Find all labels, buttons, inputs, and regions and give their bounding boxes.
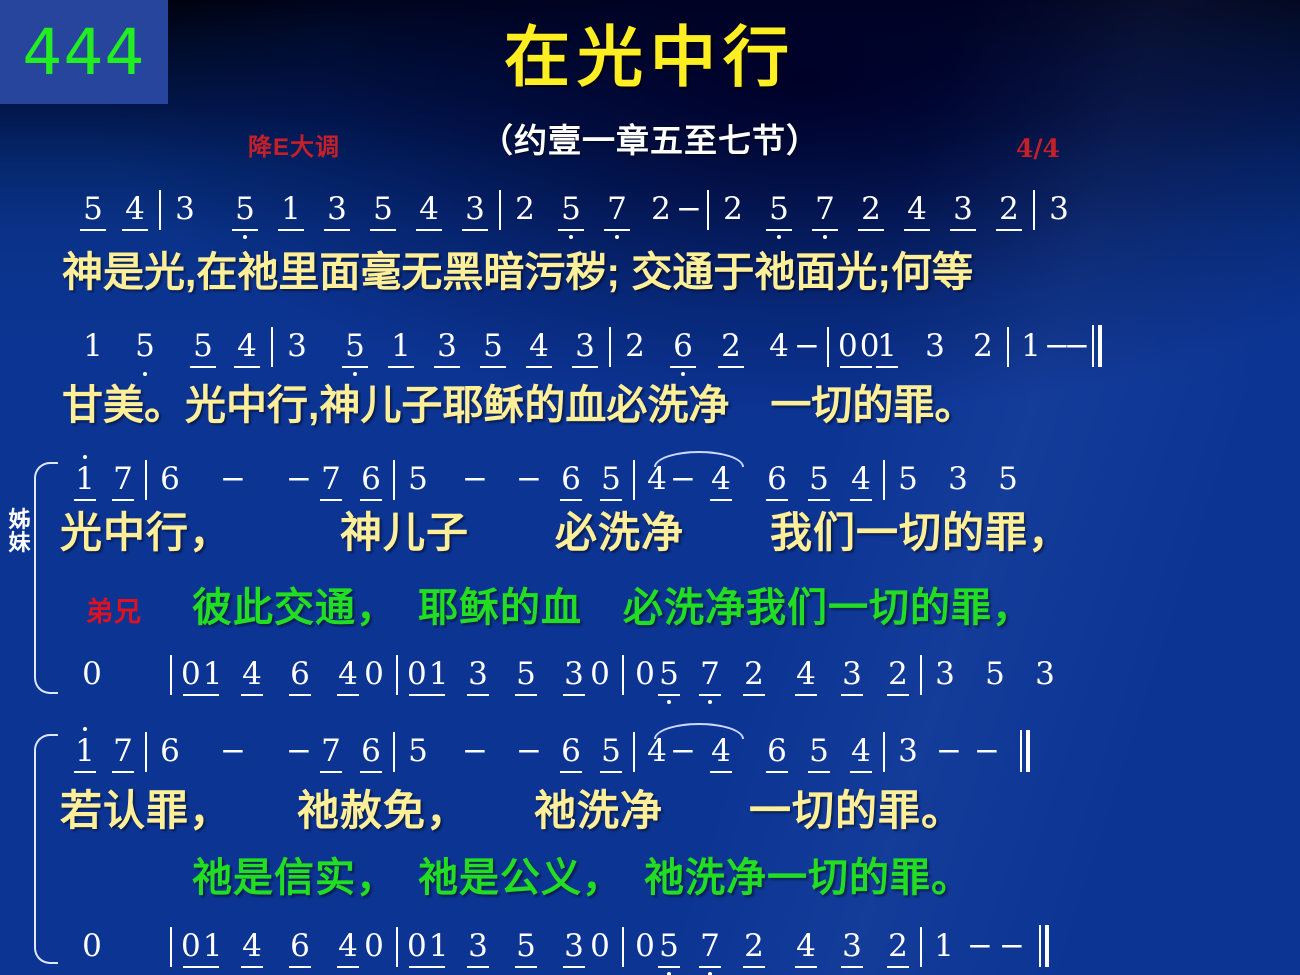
note: 3	[561, 931, 587, 971]
note: 7	[810, 194, 840, 234]
barline	[1007, 327, 1009, 367]
chorus-brace-2	[34, 734, 58, 964]
note: 3	[944, 464, 972, 504]
note: 1	[1018, 331, 1044, 371]
note: 5	[368, 194, 398, 234]
note: 3	[570, 331, 600, 371]
note-dash: −	[974, 736, 998, 776]
note: 5	[478, 331, 508, 371]
note: 5	[513, 659, 539, 699]
note: 6	[764, 464, 790, 504]
time-signature: 4/4	[1016, 134, 1060, 163]
note: 2	[994, 194, 1024, 234]
barline	[827, 327, 829, 367]
note: 1	[276, 194, 306, 234]
note: 6	[764, 736, 790, 776]
note: 6	[287, 931, 313, 971]
note: 5	[994, 464, 1022, 504]
note-dash: −	[220, 736, 244, 776]
note-dash: −	[670, 736, 696, 776]
note: 4	[335, 659, 361, 699]
hymn-number: 444	[22, 21, 145, 84]
note: 3	[894, 736, 922, 776]
note-dash: −	[286, 464, 310, 504]
note-dash: −	[1044, 331, 1064, 371]
note-dash: −	[999, 931, 1021, 971]
note: 4	[232, 331, 262, 371]
note: 0	[633, 659, 657, 699]
note: 3	[465, 659, 491, 699]
barline	[883, 732, 885, 772]
note-high: 1	[72, 736, 98, 776]
note: 5	[78, 194, 108, 234]
note: 2	[885, 931, 911, 971]
note: 7	[318, 464, 344, 504]
note: 2	[510, 194, 540, 234]
barline	[499, 190, 501, 230]
note: 5	[230, 194, 260, 234]
staff-verse-line-1: 5 4 3 5 1 3 5 4 3 2 5 7 2 − 2 5 7 2 4	[78, 190, 1074, 234]
note: 5	[340, 331, 370, 371]
note-dash: −	[462, 736, 486, 776]
barline	[396, 655, 398, 695]
note: 4	[764, 331, 794, 371]
note: 6	[558, 464, 584, 504]
note-dash: −	[794, 331, 818, 371]
note: 4	[793, 931, 819, 971]
note: 2	[646, 194, 676, 234]
staff-verse-line-2: 1 5 5 4 3 5 1 3 5 4 3 2 6 2 4 − 00 1 3	[78, 325, 1106, 371]
barline	[633, 732, 635, 772]
note-pair: 01	[407, 659, 447, 699]
note: 4	[414, 194, 444, 234]
note: 3	[839, 659, 865, 699]
note: 6	[156, 736, 184, 776]
note-dash: −	[220, 464, 244, 504]
note: 5	[657, 659, 681, 699]
barline	[633, 460, 635, 500]
note: 3	[561, 659, 587, 699]
lyric-verse-line-1: 神是光,在祂里面毫无黑暗污秽; 交通于祂面光;何等	[62, 252, 973, 293]
note: 1	[386, 331, 416, 371]
note: 7	[602, 194, 632, 234]
note: 3	[460, 194, 490, 234]
note: 3	[1031, 659, 1059, 699]
note: 0	[587, 659, 613, 699]
note: 4	[239, 931, 265, 971]
note: 0	[78, 931, 106, 971]
note: 1	[874, 331, 900, 371]
note: 4	[708, 736, 734, 776]
note: 5	[764, 194, 794, 234]
note: 5	[894, 464, 922, 504]
note: 4	[793, 659, 819, 699]
note: 6	[156, 464, 184, 504]
note: 3	[1044, 194, 1074, 234]
barline	[145, 732, 147, 772]
note: 4	[524, 331, 554, 371]
part-label-sisters: 姊妹	[8, 508, 32, 554]
note: 2	[741, 931, 767, 971]
note: 3	[839, 931, 865, 971]
note: 5	[513, 931, 539, 971]
barline	[883, 460, 885, 500]
note: 5	[598, 736, 624, 776]
note: 4	[644, 736, 670, 776]
note: 7	[697, 659, 723, 699]
note-pair: 01	[181, 931, 221, 971]
note: 1	[931, 931, 957, 971]
barline	[271, 327, 273, 367]
note: 6	[558, 736, 584, 776]
note: 1	[78, 331, 108, 371]
note: 5	[404, 464, 432, 504]
barline	[707, 190, 709, 230]
note: 2	[741, 659, 767, 699]
barline	[170, 927, 172, 967]
note-pair: 01	[407, 931, 447, 971]
barline	[393, 732, 395, 772]
final-barline	[1039, 925, 1049, 967]
note: 2	[718, 194, 748, 234]
part-label-brothers: 弟兄	[86, 598, 142, 626]
note: 2	[885, 659, 911, 699]
hymn-slide: 444 在光中行 （约壹一章五至七节） 降E大调 4/4 5 4 3 5 1 3…	[0, 0, 1300, 975]
staff-chorus-line-1-melody: 1 7 6 − − 7 6 5 − − 6 5 4 − 4 6 5 4 5	[72, 460, 1022, 504]
page-title: 在光中行	[0, 24, 1300, 90]
note: 2	[968, 331, 998, 371]
note-dash: −	[516, 736, 540, 776]
note: 0	[78, 659, 106, 699]
barline	[920, 927, 922, 967]
chorus-brace-1	[34, 462, 58, 694]
note: 2	[620, 331, 650, 371]
note: 4	[335, 931, 361, 971]
note-dash: −	[936, 736, 960, 776]
note: 3	[432, 331, 462, 371]
hymn-number-badge: 444	[0, 0, 168, 104]
note: 3	[465, 931, 491, 971]
note-high: 1	[72, 464, 98, 504]
lyric-chorus-2-sisters: 若认罪， 祂赦免， 祂洗净 一切的罪。	[60, 790, 964, 832]
note: 7	[697, 931, 723, 971]
note: 3	[920, 331, 950, 371]
note: 5	[188, 331, 218, 371]
note: 7	[318, 736, 344, 776]
note-pair: 01	[181, 659, 221, 699]
note: 4	[120, 194, 150, 234]
note: 0	[633, 931, 657, 971]
barline	[609, 327, 611, 367]
note-dash: −	[286, 736, 310, 776]
note-pair: 00	[838, 331, 874, 371]
note: 0	[361, 659, 387, 699]
note: 4	[848, 464, 874, 504]
note: 3	[170, 194, 200, 234]
note: 6	[358, 464, 384, 504]
note: 4	[708, 464, 734, 504]
note-dash: −	[676, 194, 698, 234]
staff-chorus-line-2-bass: 0 01 4 6 4 0 01 3 5 3 0 0 5 7 2 4 3 2 1 …	[78, 925, 1053, 971]
note: 5	[657, 931, 681, 971]
note: 7	[110, 464, 136, 504]
note: 4	[848, 736, 874, 776]
barline	[1033, 190, 1035, 230]
note: 3	[282, 331, 312, 371]
note: 5	[404, 736, 432, 776]
key-signature: 降E大调	[248, 127, 340, 162]
note-dash: −	[1064, 331, 1084, 371]
note: 6	[358, 736, 384, 776]
note: 3	[322, 194, 352, 234]
note: 7	[110, 736, 136, 776]
lyric-chorus-2-brothers: 祂是信实， 祂是公义， 祂洗净一切的罪。	[192, 858, 972, 898]
scripture-reference: （约壹一章五至七节）	[0, 124, 1300, 157]
barline	[159, 190, 161, 230]
barline	[622, 655, 624, 695]
final-barline	[1092, 325, 1102, 367]
note: 4	[239, 659, 265, 699]
note: 4	[644, 464, 670, 504]
note: 5	[598, 464, 624, 504]
barline	[393, 460, 395, 500]
barline	[396, 927, 398, 967]
note-dash: −	[516, 464, 540, 504]
note: 3	[931, 659, 959, 699]
note: 0	[587, 931, 613, 971]
note: 6	[287, 659, 313, 699]
staff-chorus-line-2-melody: 1 7 6 − − 7 6 5 − − 6 5 4 − 4 6 5 4 3	[72, 730, 1034, 776]
note: 3	[948, 194, 978, 234]
note: 2	[856, 194, 886, 234]
note: 5	[556, 194, 586, 234]
staff-chorus-line-1-bass: 0 01 4 6 4 0 01 3 5 3 0 0 5 7 2 4 3 2 3 …	[78, 655, 1059, 699]
note-dash: −	[967, 931, 989, 971]
barline	[622, 927, 624, 967]
lyric-verse-line-2: 甘美。光中行,神儿子耶稣的血必洗净 一切的罪。	[62, 385, 975, 426]
note: 5	[981, 659, 1009, 699]
note: 2	[716, 331, 746, 371]
barline	[920, 655, 922, 695]
note: 5	[130, 331, 160, 371]
note-dash: −	[462, 464, 486, 504]
barline	[170, 655, 172, 695]
lyric-chorus-1-brothers: 彼此交通， 耶稣的血 必洗净我们一切的罪，	[192, 588, 1033, 628]
note: 6	[668, 331, 698, 371]
barline	[145, 460, 147, 500]
note-dash: −	[670, 464, 696, 504]
lyric-chorus-1-sisters: 光中行， 神儿子 必洗净 我们一切的罪，	[60, 512, 1071, 554]
note: 5	[806, 464, 832, 504]
note: 5	[806, 736, 832, 776]
note: 4	[902, 194, 932, 234]
final-barline	[1020, 730, 1030, 772]
note: 0	[361, 931, 387, 971]
